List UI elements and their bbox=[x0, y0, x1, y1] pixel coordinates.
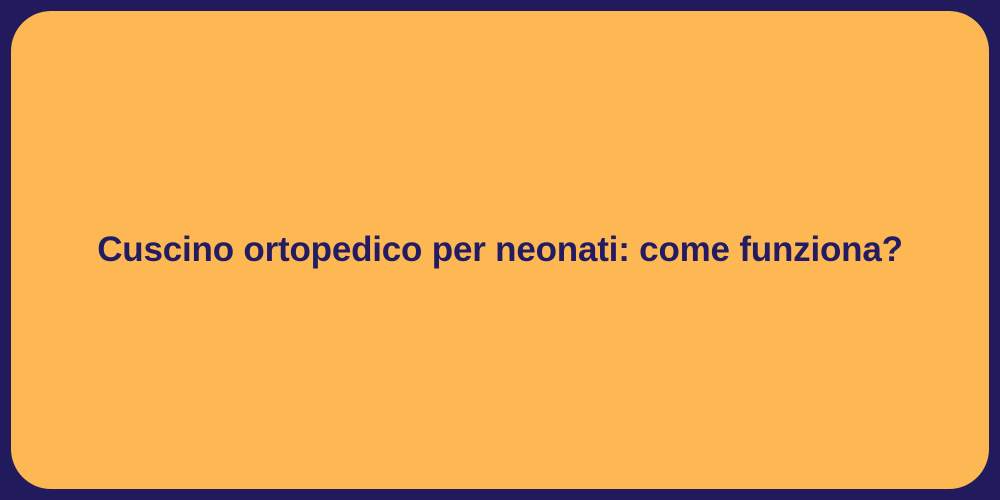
page-title: Cuscino ortopedico per neonati: come fun… bbox=[97, 228, 903, 272]
card-panel: Cuscino ortopedico per neonati: come fun… bbox=[11, 11, 989, 489]
card-outer-frame: Cuscino ortopedico per neonati: come fun… bbox=[0, 0, 1000, 500]
